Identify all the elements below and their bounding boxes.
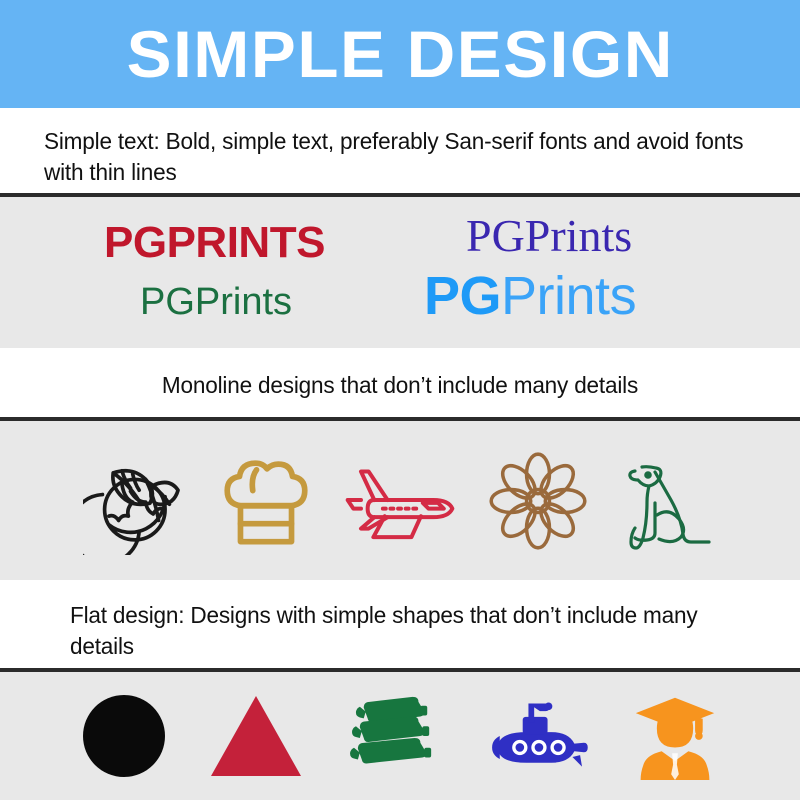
graduate-icon [632,692,718,780]
caption-monoline: Monoline designs that don’t include many… [16,370,784,401]
section-monoline-icons [0,421,800,580]
caption-flat-design: Flat design: Designs with simple shapes … [70,600,742,661]
submarine-icon [488,692,588,780]
flower-icon [486,449,590,553]
section-flat-icons [0,672,800,800]
section-flat-caption-band: Flat design: Designs with simple shapes … [0,580,800,668]
globe-leaf-icon [83,447,191,555]
section-logo-samples: PGPRINTS PGPrints PGPrints PGPrints [0,197,800,348]
page-title: SIMPLE DESIGN [126,21,673,87]
caption-simple-text: Simple text: Bold, simple text, preferab… [44,126,754,187]
logo-pgprints-caps-red: PGPRINTS [104,221,325,265]
books-icon [346,694,444,778]
header-banner: SIMPLE DESIGN [0,0,800,108]
dog-icon [617,445,717,557]
section-monoline-caption-band: Monoline designs that don’t include many… [0,348,800,417]
logo-prints-light: Prints [501,266,636,326]
chef-hat-icon [218,449,314,553]
circle-icon [82,694,166,778]
airplane-icon [341,455,459,547]
logo-pg-bold: PG [424,266,501,326]
logo-pgprints-green: PGPrints [140,283,292,321]
infographic-page: SIMPLE DESIGN Simple text: Bold, simple … [0,0,800,800]
triangle-icon [210,694,302,778]
section-simple-text-caption-band: Simple text: Bold, simple text, preferab… [0,108,800,193]
logo-pgprints-serif-blue: PGPrints [466,213,632,259]
logo-pgprints-blue-split: PGPrints [424,269,636,323]
